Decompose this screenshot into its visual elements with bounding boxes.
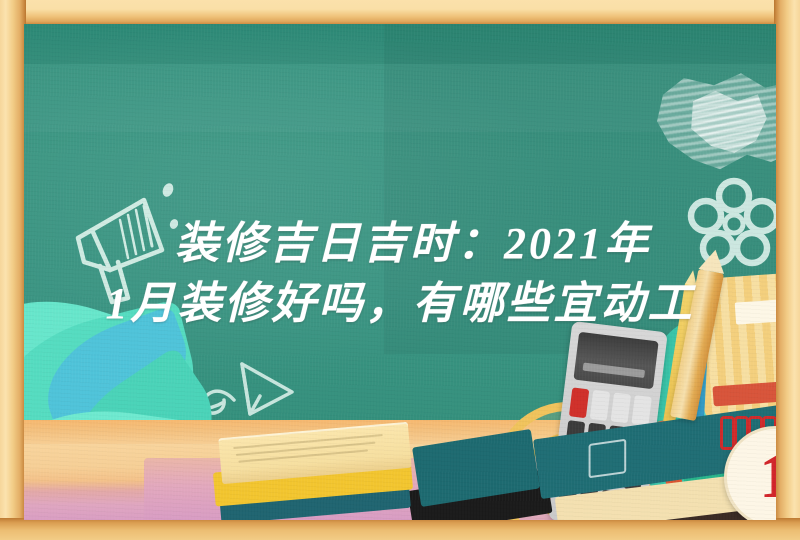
protractor-inner (514, 422, 622, 520)
laptop-base (407, 469, 552, 520)
frame-right-edge (774, 0, 800, 540)
frame-top-edge (0, 0, 800, 26)
desk-surface-pink (144, 458, 636, 520)
calculator-keys (557, 387, 652, 520)
leaf-icon (39, 346, 243, 520)
calendar-rings (718, 416, 776, 446)
paper-plane-icon (164, 356, 324, 446)
book-icon (218, 422, 411, 484)
chalkboard-banner: 1 装修吉日吉时：2021年 1月装修好吗，有哪些宜动工 (0, 0, 800, 540)
headline-line-1: 装修吉日吉时：2021年 (26, 214, 774, 274)
book-icon (575, 481, 776, 520)
book-plate (589, 439, 627, 479)
frame-left-edge (0, 0, 26, 540)
leaf-icon (24, 397, 211, 520)
book-icon (213, 455, 413, 506)
green-band (683, 458, 776, 495)
page-title: 装修吉日吉时：2021年 1月装修好吗，有哪些宜动工 (26, 214, 774, 334)
board-tone-band-top (24, 24, 776, 64)
laptop-screen (412, 429, 540, 507)
book-icon (533, 405, 776, 499)
book-icon (555, 467, 776, 520)
desk-scene: 1 (24, 310, 776, 520)
protractor-icon (475, 383, 661, 520)
calculator-icon (548, 321, 668, 520)
desk-surface (24, 444, 776, 520)
frame-bottom-edge (0, 518, 800, 540)
book-icon (219, 478, 411, 520)
headline-line-2: 1月装修好吗，有哪些宜动工 (26, 274, 774, 334)
pencil-icon (649, 420, 695, 520)
calendar-number: 1 (727, 429, 776, 520)
calculator-screen (573, 332, 658, 389)
desk-edge (24, 420, 776, 446)
green-band (687, 429, 776, 465)
desk-calendar-icon: 1 (724, 426, 776, 520)
backpack-strap (712, 378, 776, 406)
